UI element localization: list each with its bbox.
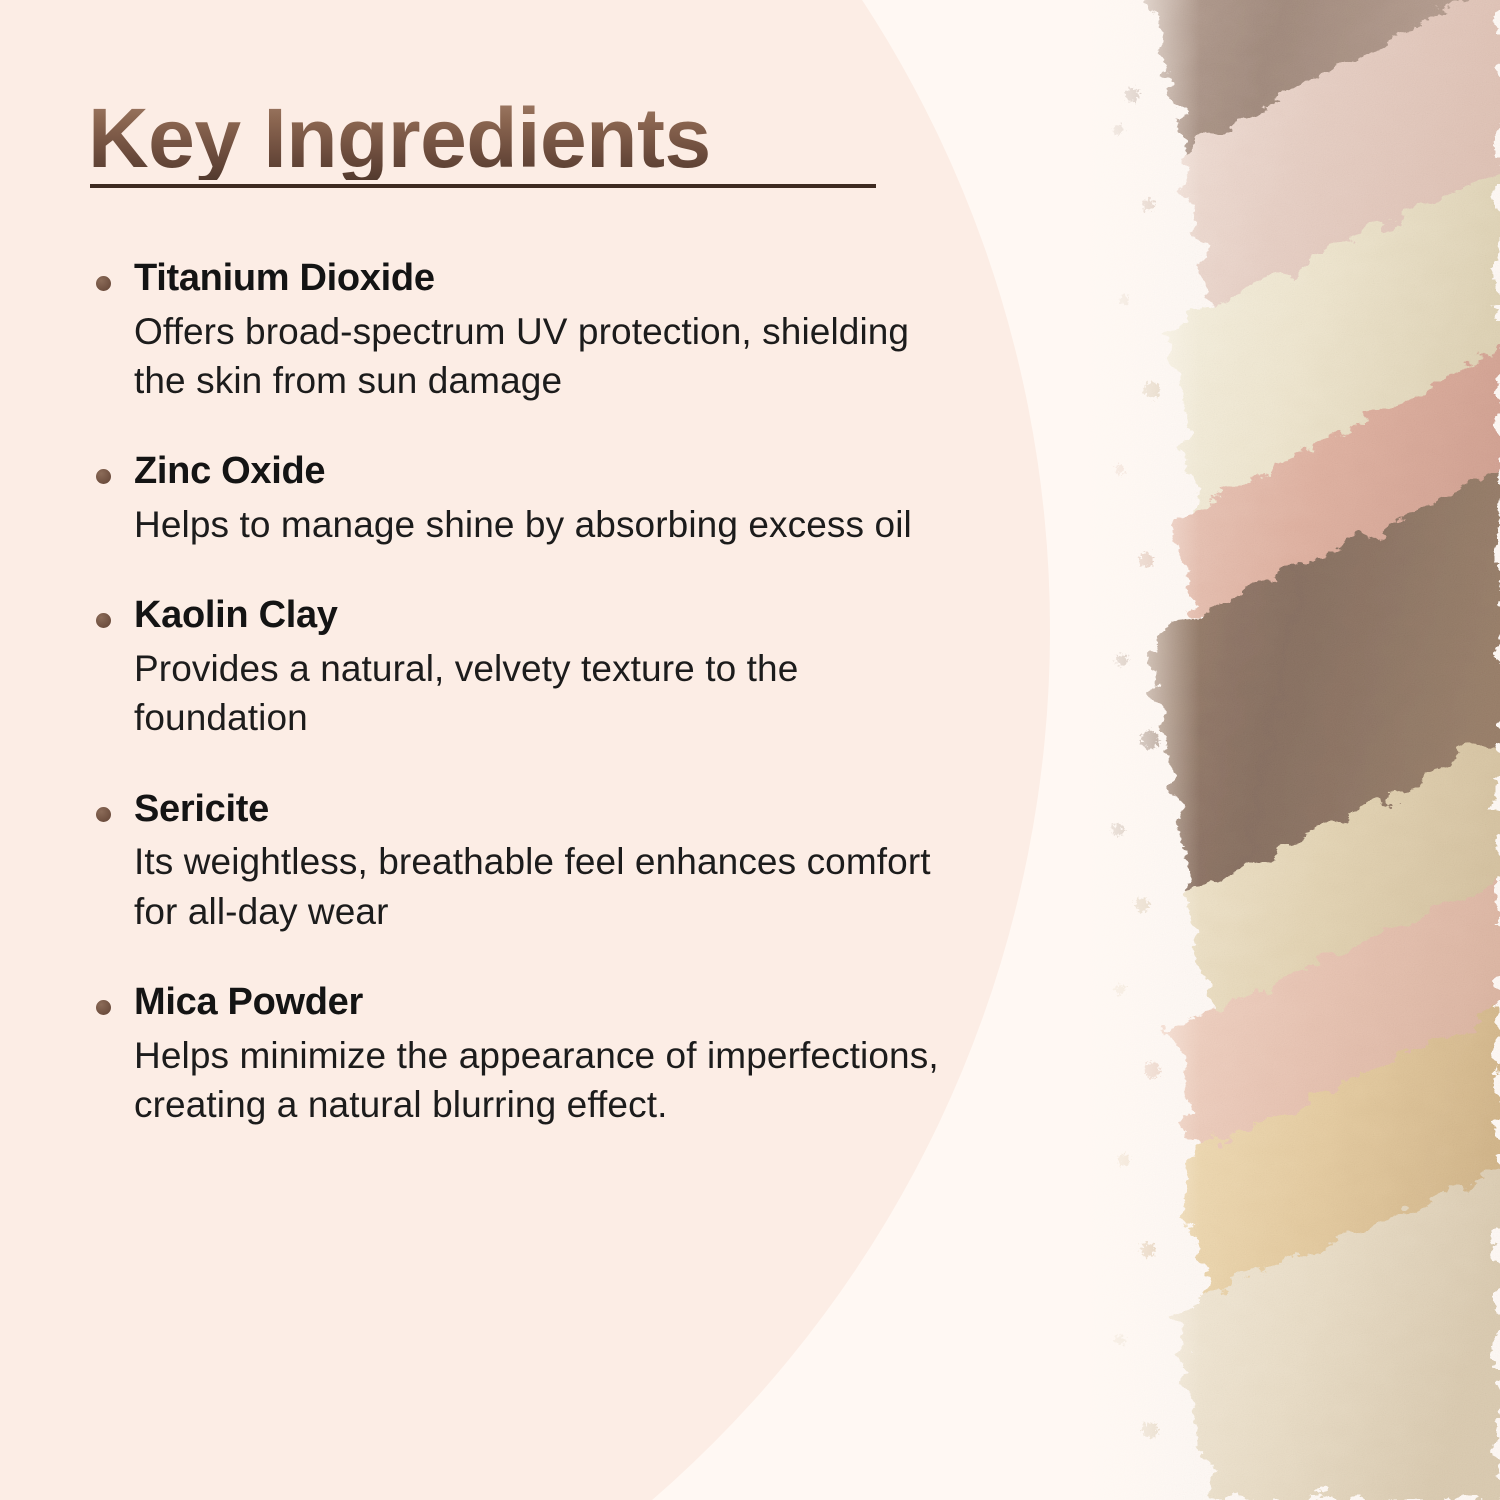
ingredient-name: Sericite: [134, 787, 988, 832]
ingredient-description: Helps minimize the appearance of imperfe…: [134, 1031, 954, 1129]
ingredient-description: Helps to manage shine by absorbing exces…: [134, 500, 954, 549]
list-item: Zinc Oxide Helps to manage shine by abso…: [88, 449, 988, 549]
list-item: Titanium Dioxide Offers broad-spectrum U…: [88, 256, 988, 405]
list-item: Mica Powder Helps minimize the appearanc…: [88, 980, 988, 1129]
bullet-dot-icon: [96, 276, 111, 291]
list-item: Sericite Its weightless, breathable feel…: [88, 787, 988, 936]
ingredient-name: Titanium Dioxide: [134, 256, 988, 301]
ingredient-description: Provides a natural, velvety texture to t…: [134, 644, 954, 742]
bullet-dot-icon: [96, 469, 111, 484]
ingredient-name: Zinc Oxide: [134, 449, 988, 494]
ingredient-name: Mica Powder: [134, 980, 988, 1025]
ingredient-list: Titanium Dioxide Offers broad-spectrum U…: [88, 256, 988, 1129]
powder-swatch-image: [1080, 0, 1500, 1500]
ingredient-description: Offers broad-spectrum UV protection, shi…: [134, 307, 954, 405]
page-title: Key Ingredients: [88, 96, 711, 180]
title-underline: [90, 184, 876, 188]
ingredient-name: Kaolin Clay: [134, 593, 988, 638]
page-title-wrapper: Key Ingredients: [88, 96, 888, 180]
content-panel: Key Ingredients Titanium Dioxide Offers …: [0, 0, 1060, 1500]
bullet-dot-icon: [96, 613, 111, 628]
bullet-dot-icon: [96, 807, 111, 822]
bullet-dot-icon: [96, 1000, 111, 1015]
ingredient-description: Its weightless, breathable feel enhances…: [134, 837, 954, 935]
list-item: Kaolin Clay Provides a natural, velvety …: [88, 593, 988, 742]
